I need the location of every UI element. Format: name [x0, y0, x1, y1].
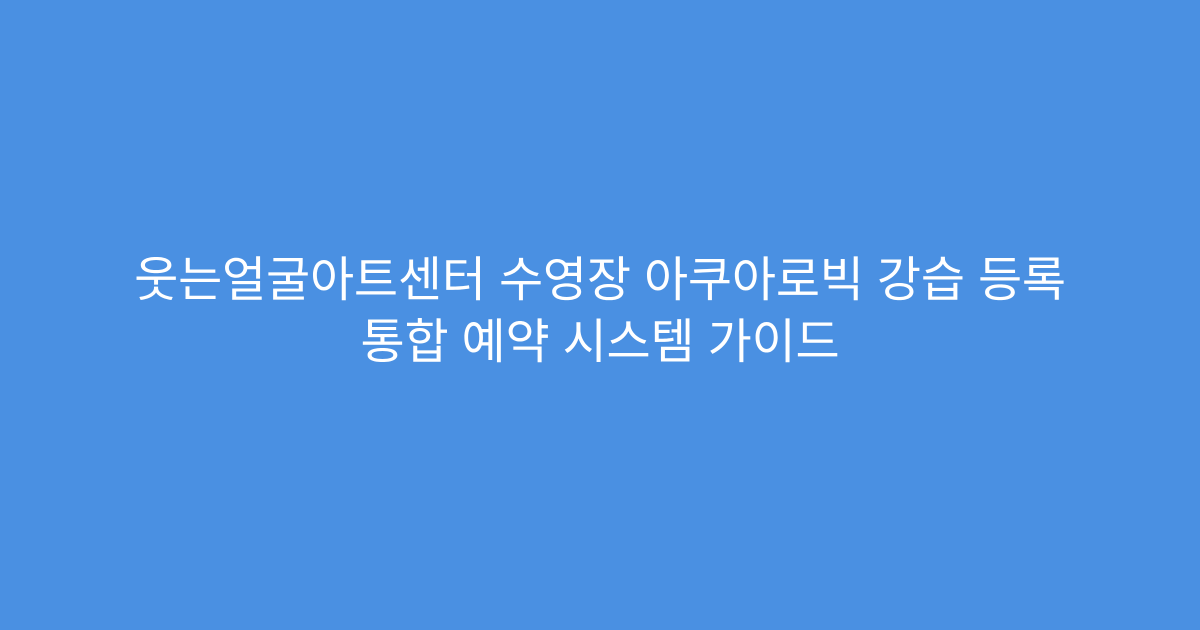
title-line-secondary: 통합 예약 시스템 가이드 — [90, 312, 1110, 374]
page-title: 웃는얼굴아트센터 수영장 아쿠아로빅 강습 등록 통합 예약 시스템 가이드 — [70, 250, 1130, 374]
title-card: 웃는얼굴아트센터 수영장 아쿠아로빅 강습 등록 통합 예약 시스템 가이드 — [0, 0, 1200, 630]
title-line-primary: 웃는얼굴아트센터 수영장 아쿠아로빅 강습 등록 — [90, 250, 1110, 312]
